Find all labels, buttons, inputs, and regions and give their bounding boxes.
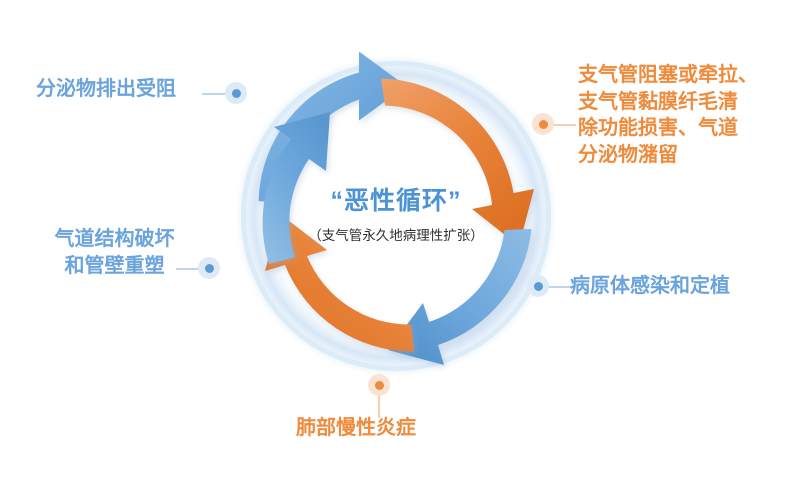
diagram-canvas: “恶性循环” （支气管永久地病理性扩张） 分泌物排出受阻 气道结构破坏 和管壁重… (0, 0, 812, 495)
connector-line-top-right (552, 124, 576, 126)
label-airway-structure-destruction: 气道结构破坏 和管壁重塑 (32, 226, 197, 279)
connector-dot-bottom[interactable] (368, 374, 390, 396)
connector-dot-top-right[interactable] (532, 113, 554, 135)
connector-dot-top-left[interactable] (225, 82, 247, 104)
label-bronchial-obstruction-and-mucus-retention: 支气管阻塞或牵拉、 支气管黏膜纤毛清 除功能损害、气道 分泌物潴留 (578, 62, 802, 168)
label-secretion-drainage-obstructed: 分泌物排出受阻 (36, 76, 176, 103)
connector-line-top-left (202, 93, 227, 95)
cycle-ring-svg (231, 51, 561, 381)
label-chronic-lung-inflammation: 肺部慢性炎症 (296, 415, 416, 442)
cycle-ring (231, 51, 561, 381)
connector-dot-middle-left[interactable] (198, 257, 220, 279)
connector-line-middle-right (547, 286, 571, 288)
connector-dot-middle-right[interactable] (527, 275, 549, 297)
label-pathogen-infection-colonization: 病原体感染和定植 (570, 273, 730, 300)
